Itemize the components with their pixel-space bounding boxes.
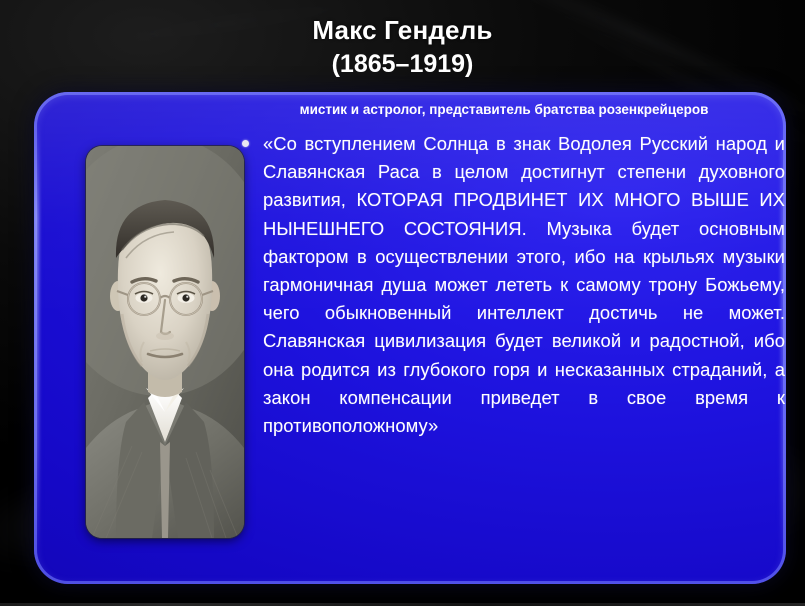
bullet-point-icon [242,140,249,147]
portrait-illustration [86,146,244,538]
slide-header: Макс Гендель (1865–1919) [0,14,805,81]
panel-left-highlight [34,122,39,555]
content-panel: мистик и астролог, представитель братств… [34,92,786,584]
subtitle: мистик и астролог, представитель братств… [230,101,778,119]
lifespan-years: (1865–1919) [0,48,805,81]
quote-bullet-row: «Со вступлением Солнца в знак Водолея Ру… [239,130,785,440]
page-title: Макс Гендель [0,14,805,47]
portrait-photo [86,146,244,538]
presentation-slide: Макс Гендель (1865–1919) мистик и астрол… [0,0,805,606]
quote-block: «Со вступлением Солнца в знак Водолея Ру… [239,130,785,440]
quote-text: «Со вступлением Солнца в знак Водолея Ру… [263,130,785,440]
